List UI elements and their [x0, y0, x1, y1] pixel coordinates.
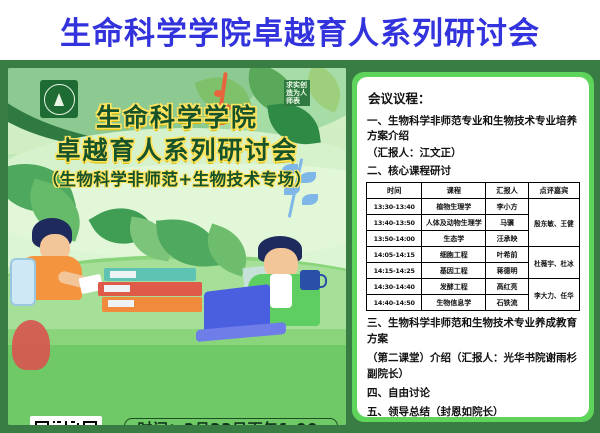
- meeting-time-label: 时间：2月23日下午1:00-4:00: [125, 418, 337, 425]
- table-row: 14:05-14:15 细胞工程 叶希前 杜薇宇、杜冰: [367, 247, 580, 263]
- qr-svg: [33, 419, 99, 425]
- col-header-presenter: 汇报人: [486, 183, 529, 199]
- table-row: 14:30-14:40 发酵工程 高红亮 李大力、任华: [367, 279, 580, 295]
- cell-time: 14:40-14:50: [367, 295, 422, 311]
- agenda-content: 会议议程： 一、生物科学非师范专业和生物技术专业培养方案介绍 （汇报人：江文正）…: [357, 77, 589, 417]
- table-header-row: 时间 课程 汇报人 点评嘉宾: [367, 183, 580, 199]
- book-label: [104, 285, 130, 292]
- cell-course: 发酵工程: [422, 279, 486, 295]
- cell-reviewer: 杜薇宇、杜冰: [528, 247, 579, 279]
- cell-time: 14:30-14:40: [367, 279, 422, 295]
- poster-headline-line1: 生命科学学院: [8, 98, 346, 134]
- cell-presenter: 蒋德明: [486, 263, 529, 279]
- cell-course: 基因工程: [422, 263, 486, 279]
- banner: 生命科学学院卓越育人系列研讨会: [0, 0, 600, 60]
- coffee-mug-icon: [300, 270, 320, 290]
- cell-presenter: 马骥: [486, 215, 529, 231]
- book-icon: [102, 297, 202, 312]
- cell-time: 13:40-13:50: [367, 215, 422, 231]
- col-header-time: 时间: [367, 183, 422, 199]
- agenda-item-1: 一、生物科学非师范专业和生物技术专业培养方案介绍: [367, 114, 580, 144]
- poster: 求实创造为人师表 生命科学学院 卓越育人系列研讨会 （生物科学非师范+生物技术专…: [8, 68, 346, 425]
- col-header-course: 课程: [422, 183, 486, 199]
- agenda-item-1-reporter: （汇报人：江文正）: [367, 146, 580, 161]
- cell-course: 植物生理学: [422, 199, 486, 215]
- cell-time: 13:30-13:40: [367, 199, 422, 215]
- person-shirt: [270, 274, 292, 308]
- table-row: 13:30-13:40 植物生理学 李小方 殷东敏、王健: [367, 199, 580, 215]
- cell-time: 13:50-14:00: [367, 231, 422, 247]
- cell-time: 14:05-14:15: [367, 247, 422, 263]
- cell-reviewer: 李大力、任华: [528, 279, 579, 311]
- coral-dot-icon: [214, 90, 223, 97]
- agenda-item-5: 五、领导总结（封恩如院长）: [367, 404, 580, 420]
- cell-reviewer: 殷东敏、王健: [528, 199, 579, 247]
- book-icon: [98, 282, 202, 296]
- cell-course: 生态学: [422, 231, 486, 247]
- schedule-table-body: 13:30-13:40 植物生理学 李小方 殷东敏、王健 13:40-13:50…: [367, 199, 580, 311]
- cell-presenter: 高红亮: [486, 279, 529, 295]
- cell-presenter: 李小方: [486, 199, 529, 215]
- schedule-table: 时间 课程 汇报人 点评嘉宾 13:30-13:40 植物生理学 李小方 殷东敏…: [366, 182, 580, 311]
- book-icon: [104, 268, 196, 281]
- cell-course: 生物信息学: [422, 295, 486, 311]
- student-backpack: [10, 258, 36, 306]
- cell-course: 细胞工程: [422, 247, 486, 263]
- poster-headline-line3: （生物科学非师范+生物技术专场）: [8, 166, 346, 190]
- agenda-panel: 会议议程： 一、生物科学非师范专业和生物技术专业培养方案介绍 （汇报人：江文正）…: [352, 72, 594, 422]
- agenda-item-3-line2: （第二课堂）介绍（汇报人：光华书院谢雨杉副院长）: [367, 350, 580, 382]
- agenda-item-2: 二、核心课程研讨: [367, 164, 580, 179]
- cell-time: 14:15-14:25: [367, 263, 422, 279]
- cell-presenter: 叶希前: [486, 247, 529, 263]
- cell-presenter: 汪承映: [486, 231, 529, 247]
- book-label: [110, 271, 136, 278]
- agenda-item-4: 四、自由讨论: [367, 385, 580, 401]
- red-plant-icon: [12, 320, 50, 370]
- qr-pattern: [33, 419, 99, 425]
- student-illustration: [10, 218, 100, 296]
- qr-code-icon[interactable]: [30, 416, 102, 425]
- page-title: 生命科学学院卓越育人系列研讨会: [60, 8, 540, 53]
- laptop-person-illustration: [204, 236, 336, 356]
- book-label: [108, 300, 134, 307]
- screenshot-root: 生命科学学院卓越育人系列研讨会: [0, 0, 600, 433]
- agenda-title: 会议议程：: [368, 88, 580, 107]
- poster-headline-line2: 卓越育人系列研讨会: [8, 131, 346, 167]
- col-header-reviewer: 点评嘉宾: [528, 183, 579, 199]
- cell-presenter: 石铁流: [486, 295, 529, 311]
- cell-course: 人体及动物生理学: [422, 215, 486, 231]
- meeting-info-box: 时间：2月23日下午1:00-4:00 腾讯会议号：364382332: [124, 418, 338, 425]
- agenda-item-3-line1: 三、生物科学非师范和生物技术专业养成教育方案: [367, 315, 580, 347]
